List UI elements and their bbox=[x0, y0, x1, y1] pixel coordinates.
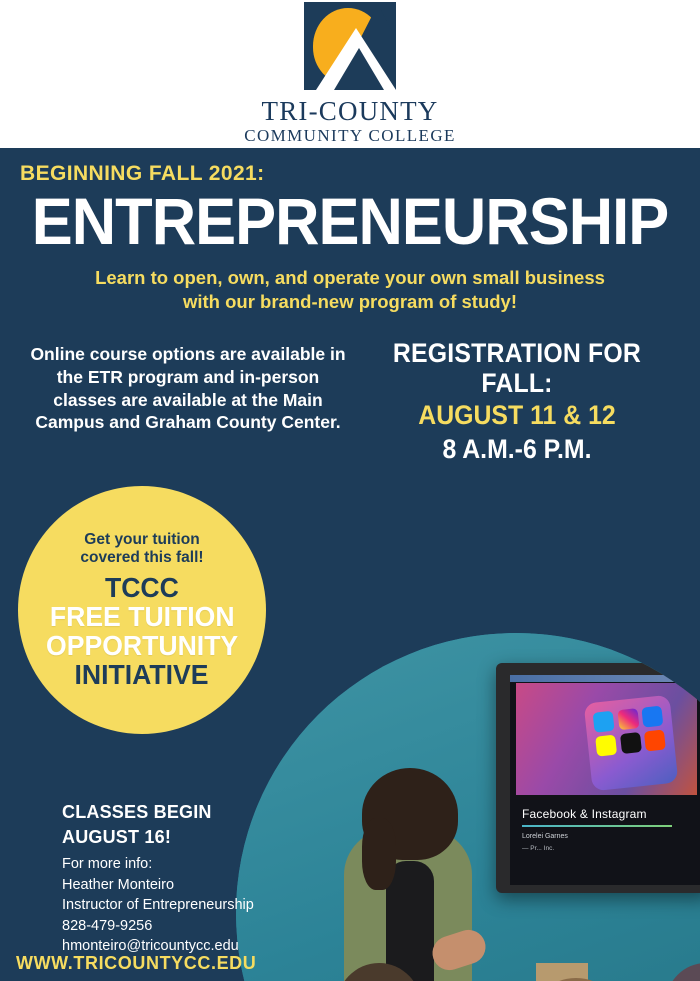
phone-app-grid bbox=[584, 695, 679, 792]
course-options-text: Online course options are available in t… bbox=[28, 343, 348, 434]
monitor-screen: Facebook & Instagram Lorelei Garnes — Pr… bbox=[510, 675, 700, 885]
subheadline-line-1: Learn to open, own, and operate your own… bbox=[40, 266, 660, 290]
slide-subtitle-secondary: — Pr... Inc. bbox=[522, 845, 554, 852]
logo-header: TRI-COUNTY COMMUNITY COLLEGE bbox=[0, 0, 700, 148]
tccc-mountain-sun-logo-icon bbox=[304, 2, 396, 90]
badge-kicker-line-1: Get your tuition bbox=[80, 531, 203, 549]
presentation-monitor: Facebook & Instagram Lorelei Garnes — Pr… bbox=[496, 663, 700, 893]
contact-title: Instructor of Entrepreneurship bbox=[62, 895, 254, 916]
badge-kicker: Get your tuition covered this fall! bbox=[80, 531, 203, 568]
logo-wordmark: TRI-COUNTY COMMUNITY COLLEGE bbox=[244, 98, 456, 144]
classroom-photo: Facebook & Instagram Lorelei Garnes — Pr… bbox=[236, 633, 700, 981]
twitter-icon bbox=[593, 711, 615, 733]
contact-name: Heather Monteiro bbox=[62, 875, 254, 896]
registration-title: REGISTRATION FOR FALL: bbox=[365, 338, 669, 398]
contact-intro: For more info: bbox=[62, 854, 254, 875]
tiktok-icon bbox=[620, 732, 642, 754]
logo-subtitle: COMMUNITY COLLEGE bbox=[244, 127, 456, 144]
instructor-shirt bbox=[386, 861, 434, 981]
badge-line-opportunity: OPPORTUNITY bbox=[46, 631, 238, 660]
classes-begin-text: CLASSES BEGIN AUGUST 16! bbox=[62, 800, 212, 850]
snapchat-icon bbox=[596, 735, 618, 757]
classes-begin-line-1: CLASSES BEGIN bbox=[62, 800, 212, 825]
slide-subtitle: Lorelei Garnes bbox=[522, 833, 568, 840]
contact-phone[interactable]: 828-479-9256 bbox=[62, 916, 254, 937]
main-body: Facebook & Instagram Lorelei Garnes — Pr… bbox=[0, 148, 700, 981]
badge-line-initiative: INITIATIVE bbox=[75, 660, 209, 689]
kicker-text: BEGINNING FALL 2021: bbox=[20, 162, 265, 186]
instructor-hair-side bbox=[362, 818, 396, 890]
mountain-peak-inner bbox=[334, 48, 384, 90]
logo-title: TRI-COUNTY bbox=[244, 98, 456, 125]
badge-line-free-tuition: FREE TUITION bbox=[50, 602, 235, 631]
slide-divider bbox=[522, 825, 672, 827]
badge-line-tccc: TCCC bbox=[105, 573, 179, 602]
registration-block: REGISTRATION FOR FALL: AUGUST 11 & 12 8 … bbox=[352, 338, 682, 465]
flyer-poster: TRI-COUNTY COMMUNITY COLLEGE bbox=[0, 0, 700, 981]
registration-date: AUGUST 11 & 12 bbox=[365, 400, 669, 431]
slide-photo bbox=[516, 683, 697, 795]
classroom-photo-image: Facebook & Instagram Lorelei Garnes — Pr… bbox=[236, 633, 700, 981]
registration-time: 8 A.M.-6 P.M. bbox=[365, 434, 669, 465]
free-tuition-badge: Get your tuition covered this fall! TCCC… bbox=[18, 486, 266, 734]
browser-toolbar bbox=[510, 675, 700, 682]
slide-title: Facebook & Instagram bbox=[522, 807, 647, 821]
subheadline: Learn to open, own, and operate your own… bbox=[40, 266, 660, 315]
page-title: ENTREPRENEURSHIP bbox=[25, 188, 676, 254]
classes-begin-line-2: AUGUST 16! bbox=[62, 825, 212, 850]
website-url[interactable]: WWW.TRICOUNTYCC.EDU bbox=[16, 953, 256, 974]
instagram-icon bbox=[618, 708, 640, 730]
facebook-icon bbox=[642, 706, 664, 728]
reddit-icon bbox=[645, 729, 667, 751]
badge-kicker-line-2: covered this fall! bbox=[80, 549, 203, 567]
subheadline-line-2: with our brand-new program of study! bbox=[40, 290, 660, 314]
contact-block: For more info: Heather Monteiro Instruct… bbox=[62, 854, 254, 957]
